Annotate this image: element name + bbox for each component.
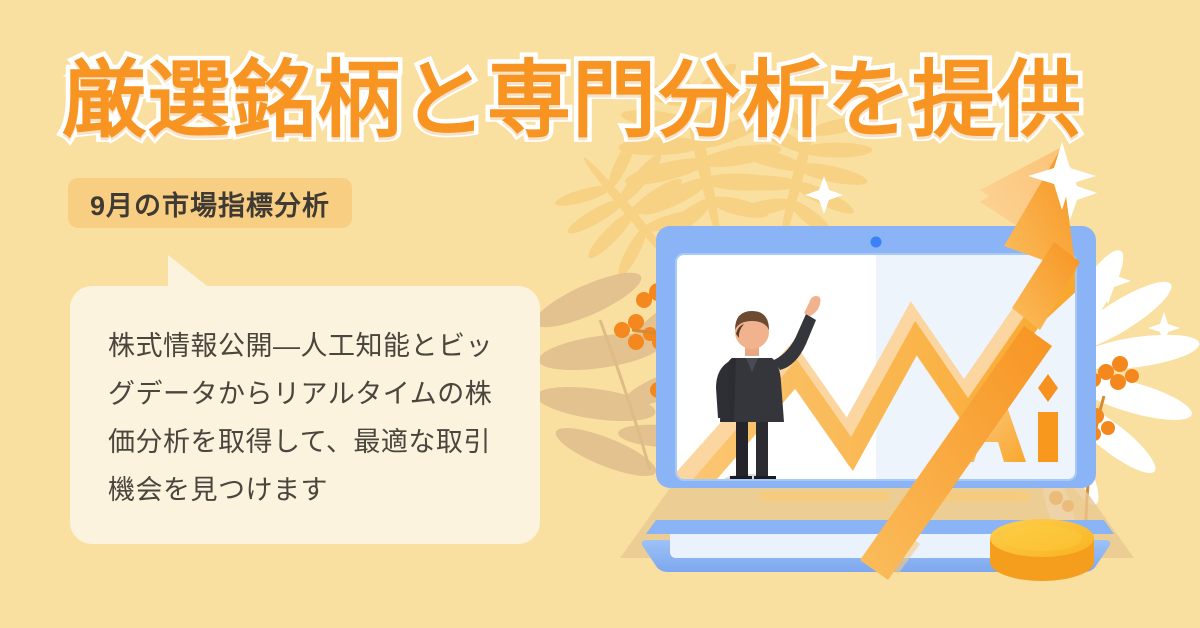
speech-bubble-text: 株式情報公開—人工知能とビッグデータからリアルタイムの株価分析を取得して、最適な… [108, 322, 508, 514]
ai-stock-illustration [560, 130, 1200, 628]
promo-banner: 厳選銘柄と専門分析を提供 9月の市場指標分析 株式情報公開—人工知能とビッグデー… [0, 0, 1200, 628]
status-badge: 9月の市場指標分析 [68, 178, 352, 228]
laptop-webcam [871, 237, 882, 248]
page-title: 厳選銘柄と専門分析を提供 [62, 48, 1152, 152]
badge-label: 9月の市場指標分析 [90, 184, 330, 223]
gold-coin [990, 519, 1094, 581]
